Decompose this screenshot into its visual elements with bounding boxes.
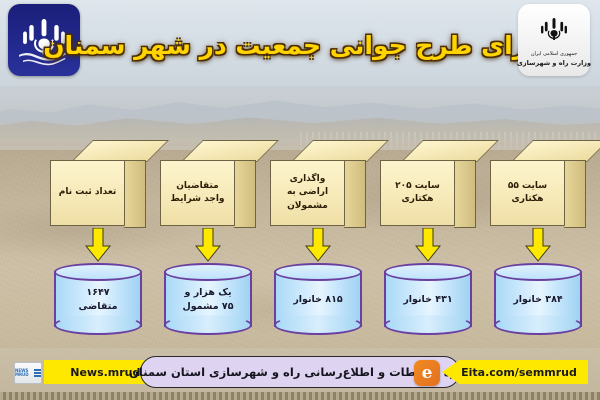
result-cylinder-2: ۴۳۱ خانوار	[384, 263, 472, 335]
eitaa-glyph: e	[422, 365, 433, 382]
header-band: اجرای طرح جوانی جمعیت در شهر سمنان جمهور…	[0, 0, 600, 86]
box-line: واگذاری	[290, 174, 326, 184]
value-line: ۳۸۴ خانوار	[513, 294, 562, 305]
eitaa-channel-url: Eita.com/semmrud	[461, 366, 577, 379]
page-title: اجرای طرح جوانی جمعیت در شهر سمنان	[90, 22, 508, 68]
box-line: تعداد ثبت نام	[59, 187, 117, 197]
arrow-down-icon	[195, 228, 221, 262]
down-arrow-3	[305, 228, 331, 262]
result-value-1: ۳۸۴ خانوار	[494, 283, 582, 317]
cylinder-bottom	[164, 315, 252, 335]
box-side-face	[124, 160, 146, 228]
box-line: اراضی به	[287, 187, 328, 197]
arrow-down-icon	[85, 228, 111, 262]
ministry-of-roads-and-urban-development-logo: جمهوری اسلامی ایران وزارت راه و شهرسازی	[518, 4, 590, 76]
box-front-face: سایت ۵۵ هکتاری	[490, 160, 565, 226]
process-box-label-1: سایت ۵۵ هکتاری	[505, 180, 550, 206]
cylinder-bottom	[274, 315, 362, 335]
process-box-2: سایت ۲۰۵ هکتاری	[380, 140, 476, 226]
process-box-label-5: تعداد ثبت نام	[56, 186, 120, 199]
cylinder-bottom	[384, 315, 472, 335]
cylinder-top	[164, 263, 252, 281]
process-box-1: سایت ۵۵ هکتاری	[490, 140, 586, 226]
flow-column-1: سایت ۵۵ هکتاری ۳۸۴ خانوار	[482, 140, 594, 335]
result-cylinder-3: ۸۱۵ خانوار	[274, 263, 362, 335]
box-line: مشمولان	[287, 201, 328, 211]
eitaa-icon[interactable]: e	[414, 360, 440, 386]
box-line: هکتاری	[512, 194, 544, 204]
cylinder-top	[494, 263, 582, 281]
value-line: ۷۵ مشمول	[182, 301, 233, 312]
flow-column-3: واگذاری اراضی به مشمولان ۸۱۵ خانوار	[262, 140, 374, 335]
cylinder-bottom	[54, 315, 142, 335]
process-box-label-3: واگذاری اراضی به مشمولان	[284, 173, 331, 212]
flow-column-2: سایت ۲۰۵ هکتاری ۴۳۱ خانوار	[372, 140, 484, 335]
ministry-caption-line2: وزارت راه و شهرسازی	[517, 59, 591, 67]
result-value-3: ۸۱۵ خانوار	[274, 283, 362, 317]
box-front-face: واگذاری اراضی به مشمولان	[270, 160, 345, 226]
box-front-face: سایت ۲۰۵ هکتاری	[380, 160, 455, 226]
footer-bar: NEWS MRUD News.mrud.ir اداره ارتباطات و …	[0, 348, 600, 400]
arrow-down-icon	[525, 228, 551, 262]
eitaa-channel-banner[interactable]: Eita.com/semmrud	[442, 360, 588, 384]
result-value-5: ۱۶۴۷ متقاضی	[54, 283, 142, 317]
box-line: متقاضیان	[176, 181, 219, 191]
value-line: یک هزار و	[184, 287, 231, 298]
process-box-label-2: سایت ۲۰۵ هکتاری	[392, 180, 443, 206]
arrow-down-icon	[305, 228, 331, 262]
cylinder-top	[54, 263, 142, 281]
flow-column-4: متقاضیان واجد شرایط یک هزار و ۷۵ مشمول	[152, 140, 264, 335]
box-side-face	[454, 160, 476, 228]
footer-bottom-strip	[0, 392, 600, 400]
arrow-down-icon	[415, 228, 441, 262]
box-side-face	[564, 160, 586, 228]
process-box-3: واگذاری اراضی به مشمولان	[270, 140, 366, 226]
result-cylinder-1: ۳۸۴ خانوار	[494, 263, 582, 335]
flow-column-5: تعداد ثبت نام ۱۶۴۷ متقاضی	[42, 140, 154, 335]
result-cylinder-5: ۱۶۴۷ متقاضی	[54, 263, 142, 335]
box-line: سایت ۵۵	[508, 181, 547, 191]
flow-chart: سایت ۵۵ هکتاری ۳۸۴ خانوار	[0, 140, 600, 340]
news-icon-bars	[34, 369, 41, 377]
result-value-4: یک هزار و ۷۵ مشمول	[164, 283, 252, 317]
down-arrow-4	[195, 228, 221, 262]
result-cylinder-4: یک هزار و ۷۵ مشمول	[164, 263, 252, 335]
process-box-label-4: متقاضیان واجد شرایط	[167, 180, 227, 206]
process-box-4: متقاضیان واجد شرایط	[160, 140, 256, 226]
process-box-5: تعداد ثبت نام	[50, 140, 146, 226]
news-icon-label: NEWS MRUD	[15, 369, 33, 377]
value-line: ۴۳۱ خانوار	[403, 294, 452, 305]
cylinder-top	[384, 263, 472, 281]
organization-name-pill: اداره ارتباطات و اطلاع‌رسانی راه و شهرسا…	[140, 356, 460, 388]
value-line: ۱۶۴۷	[86, 287, 109, 298]
box-side-face	[344, 160, 366, 228]
ministry-caption-line1: جمهوری اسلامی ایران	[531, 51, 577, 57]
box-line: واجد شرایط	[170, 194, 224, 204]
infographic-poster: اجرای طرح جوانی جمعیت در شهر سمنان جمهور…	[0, 0, 600, 400]
iran-emblem-icon	[534, 13, 574, 49]
box-side-face	[234, 160, 256, 228]
value-line: متقاضی	[79, 301, 118, 312]
down-arrow-2	[415, 228, 441, 262]
box-line: سایت ۲۰۵	[395, 181, 440, 191]
box-front-face: متقاضیان واجد شرایط	[160, 160, 235, 226]
cylinder-bottom	[494, 315, 582, 335]
result-value-2: ۴۳۱ خانوار	[384, 283, 472, 317]
down-arrow-1	[525, 228, 551, 262]
down-arrow-5	[85, 228, 111, 262]
cylinder-top	[274, 263, 362, 281]
value-line: ۸۱۵ خانوار	[293, 294, 342, 305]
news-mrud-icon[interactable]: NEWS MRUD	[14, 362, 42, 384]
box-front-face: تعداد ثبت نام	[50, 160, 125, 226]
box-line: هکتاری	[402, 194, 434, 204]
